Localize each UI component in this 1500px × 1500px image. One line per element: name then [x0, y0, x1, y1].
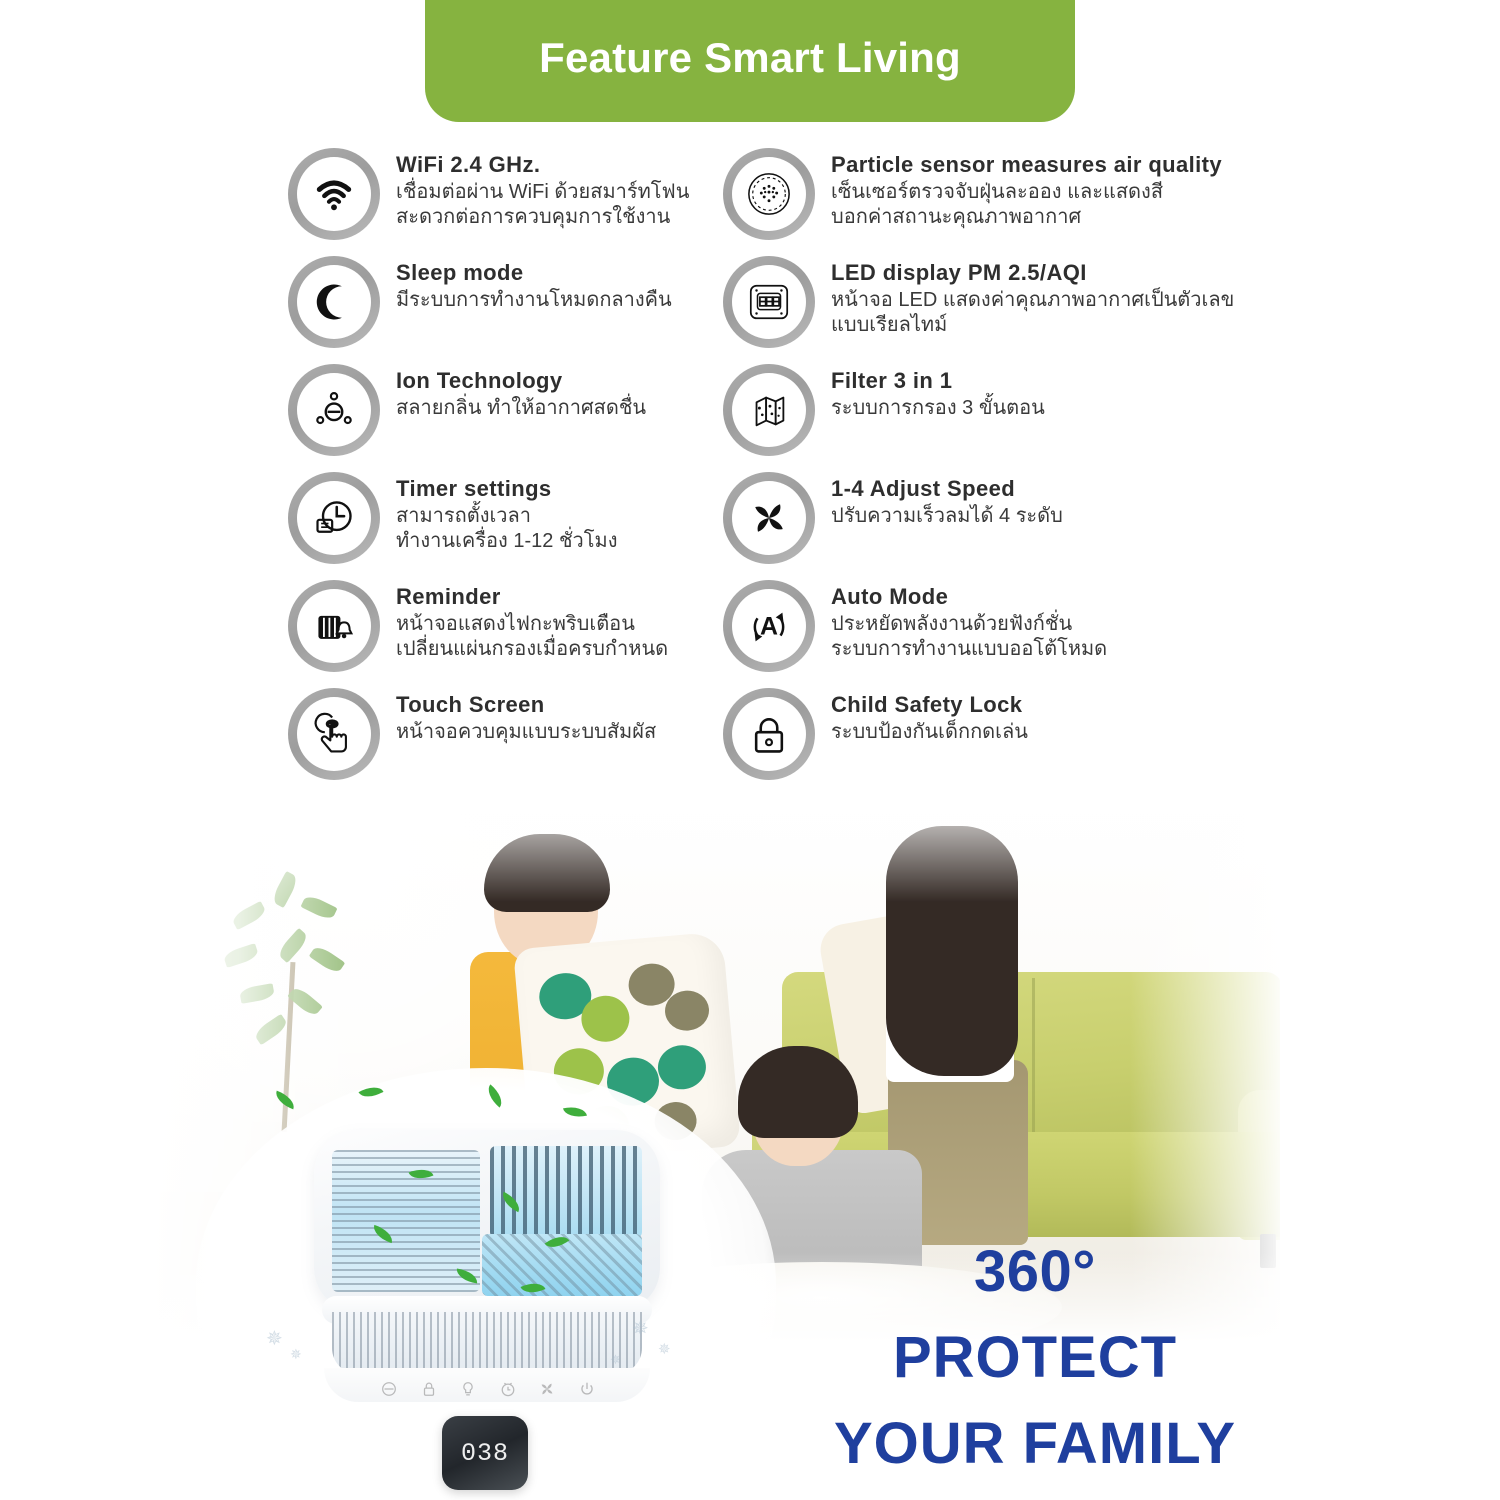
feature-text: Ion Technology สลายกลิ่น ทำให้อากาศสดชื่… — [396, 364, 646, 421]
feature-desc: เซ็นเซอร์ตรวจจับฝุ่นละออง และแสดงสี บอกค… — [831, 180, 1222, 231]
feature-text: Auto Mode ประหยัดพลังงานด้วยฟังก์ชั่น ระ… — [831, 580, 1107, 663]
grille-pane-top-right — [490, 1146, 642, 1238]
snowflake-sparkle: ✵ — [290, 1346, 302, 1363]
feature-item-adjust-speed: 1-4 Adjust Speed ปรับความเร็วลมได้ 4 ระด… — [723, 472, 1283, 568]
floating-leaf — [483, 1084, 508, 1107]
ion-icon — [288, 364, 380, 456]
feature-desc: เชื่อมต่อผ่าน WiFi ด้วยสมาร์ทโฟน สะดวกต่… — [396, 180, 689, 231]
floating-leaf — [563, 1104, 587, 1120]
purifier-side-grille — [332, 1312, 642, 1374]
feature-item-child-lock: Child Safety Lock ระบบป้องกันเด็กกดเล่น — [723, 688, 1283, 784]
feature-text: Touch Screen หน้าจอควบคุมแบบระบบสัมผัส — [396, 688, 656, 745]
light-button-icon[interactable] — [459, 1380, 477, 1398]
feature-item-touch-screen: Touch Screen หน้าจอควบคุมแบบระบบสัมผัส — [288, 688, 708, 784]
led-display-panel: 038 — [442, 1416, 528, 1490]
feature-title: Ion Technology — [396, 368, 646, 395]
snowflake-sparkle: ✵ — [610, 1352, 621, 1368]
filter-layers-icon — [723, 364, 815, 456]
snowflake-sparkle: ✵ — [658, 1340, 671, 1358]
ion-button-icon[interactable] — [380, 1380, 398, 1398]
feature-title: Child Safety Lock — [831, 692, 1028, 719]
air-purifier-product: 038 ✵ ✵ ✵ ✵ ✵ — [314, 1130, 660, 1382]
snowflake-sparkle: ✵ — [632, 1316, 649, 1341]
feature-desc: ประหยัดพลังงานด้วยฟังก์ชั่น ระบบการทำงาน… — [831, 612, 1107, 663]
feature-text: WiFi 2.4 GHz. เชื่อมต่อผ่าน WiFi ด้วยสมา… — [396, 148, 689, 231]
auto-mode-icon-glyph: A — [742, 599, 796, 653]
led-display-icon — [723, 256, 815, 348]
feature-text: Sleep mode มีระบบการทำงานโหมดกลางคืน — [396, 256, 672, 313]
feature-title: WiFi 2.4 GHz. — [396, 152, 689, 179]
product-stage: 038 ✵ ✵ ✵ ✵ ✵ — [196, 1068, 776, 1500]
feature-item-led-display: LED display PM 2.5/AQI หน้าจอ LED แสดงค่… — [723, 256, 1283, 352]
lock-icon-glyph — [742, 707, 796, 761]
timer-clock-icon — [288, 472, 380, 564]
feature-title: Particle sensor measures air quality — [831, 152, 1222, 179]
feature-text: Particle sensor measures air quality เซ็… — [831, 148, 1222, 231]
filter-reminder-bell-icon — [288, 580, 380, 672]
feature-desc: หน้าจอแสดงไฟกะพริบเตือน เปลี่ยนแผ่นกรองเ… — [396, 612, 668, 663]
timer-clock-icon-glyph — [307, 491, 361, 545]
power-button-icon[interactable] — [578, 1380, 596, 1398]
feature-item-wifi: WiFi 2.4 GHz. เชื่อมต่อผ่าน WiFi ด้วยสมา… — [288, 148, 708, 244]
filter-reminder-bell-icon-glyph — [307, 599, 361, 653]
feature-desc: หน้าจอควบคุมแบบระบบสัมผัส — [396, 720, 656, 746]
feature-item-ion-technology: Ion Technology สลายกลิ่น ทำให้อากาศสดชื่… — [288, 364, 708, 460]
filter-layers-icon-glyph — [742, 383, 796, 437]
feature-desc: ปรับความเร็วลมได้ 4 ระดับ — [831, 504, 1063, 530]
touch-hand-icon — [288, 688, 380, 780]
fan-blade-icon-glyph — [742, 491, 796, 545]
feature-desc: ระบบป้องกันเด็กกดเล่น — [831, 720, 1028, 746]
fan-blade-icon — [723, 472, 815, 564]
wifi-icon — [288, 148, 380, 240]
particle-sensor-icon — [723, 148, 815, 240]
feature-item-sleep-mode: Sleep mode มีระบบการทำงานโหมดกลางคืน — [288, 256, 708, 352]
page-title: Feature Smart Living — [539, 37, 961, 85]
feature-title: Sleep mode — [396, 260, 672, 287]
infographic-page: Feature Smart Living — [0, 0, 1500, 1500]
particle-sensor-icon-glyph — [742, 167, 796, 221]
feature-text: LED display PM 2.5/AQI หน้าจอ LED แสดงค่… — [831, 256, 1234, 339]
feature-title: Filter 3 in 1 — [831, 368, 1045, 395]
feature-item-particle-sensor: Particle sensor measures air quality เซ็… — [723, 148, 1283, 244]
feature-item-filter-3in1: Filter 3 in 1 ระบบการกรอง 3 ขั้นตอน — [723, 364, 1283, 460]
feature-text: Reminder หน้าจอแสดงไฟกะพริบเตือน เปลี่ยน… — [396, 580, 668, 663]
feature-desc: มีระบบการทำงานโหมดกลางคืน — [396, 288, 672, 314]
header-banner: Feature Smart Living — [425, 0, 1075, 122]
feature-item-auto-mode: A Auto Mode ประหยัดพลังงานด้วยฟังก์ชั่น … — [723, 580, 1283, 676]
feature-title: 1-4 Adjust Speed — [831, 476, 1063, 503]
moon-icon-glyph — [307, 275, 361, 329]
feature-title: Timer settings — [396, 476, 617, 503]
wifi-icon-glyph — [307, 167, 361, 221]
feature-title: Reminder — [396, 584, 668, 611]
control-panel[interactable] — [380, 1378, 596, 1400]
feature-item-reminder: Reminder หน้าจอแสดงไฟกะพริบเตือน เปลี่ยน… — [288, 580, 708, 676]
headline-360: 360° — [800, 1240, 1270, 1304]
lock-icon — [723, 688, 815, 780]
feature-text: 1-4 Adjust Speed ปรับความเร็วลมได้ 4 ระด… — [831, 472, 1063, 529]
purifier-top-grille — [314, 1130, 660, 1312]
feature-desc: สามารถตั้งเวลา ทำงานเครื่อง 1-12 ชั่วโมง — [396, 504, 617, 555]
touch-hand-icon-glyph — [307, 707, 361, 761]
feature-text: Child Safety Lock ระบบป้องกันเด็กกดเล่น — [831, 688, 1028, 745]
headline-protect: PROTECT — [800, 1326, 1270, 1390]
led-display-icon-glyph — [742, 275, 796, 329]
feature-desc: ระบบการกรอง 3 ขั้นตอน — [831, 396, 1045, 422]
timer-button-icon[interactable] — [499, 1380, 517, 1398]
moon-icon — [288, 256, 380, 348]
auto-mode-icon: A — [723, 580, 815, 672]
lock-button-icon[interactable] — [420, 1380, 438, 1398]
ion-icon-glyph — [307, 383, 361, 437]
bottom-headline: 360° PROTECT YOUR FAMILY — [800, 1240, 1270, 1475]
feature-desc: หน้าจอ LED แสดงค่าคุณภาพอากาศเป็นตัวเลข … — [831, 288, 1234, 339]
feature-title: Auto Mode — [831, 584, 1107, 611]
feature-title: LED display PM 2.5/AQI — [831, 260, 1234, 287]
feature-item-timer-settings: Timer settings สามารถตั้งเวลา ทำงานเครื่… — [288, 472, 708, 568]
feature-text: Timer settings สามารถตั้งเวลา ทำงานเครื่… — [396, 472, 617, 555]
child-hair — [738, 1046, 858, 1138]
snowflake-sparkle: ✵ — [266, 1326, 283, 1351]
feature-desc: สลายกลิ่น ทำให้อากาศสดชื่น — [396, 396, 646, 422]
svg-text:A: A — [760, 613, 778, 641]
fan-speed-button-icon[interactable] — [538, 1380, 556, 1398]
feature-title: Touch Screen — [396, 692, 656, 719]
headline-family: YOUR FAMILY — [800, 1412, 1270, 1476]
feature-text: Filter 3 in 1 ระบบการกรอง 3 ขั้นตอน — [831, 364, 1045, 421]
feature-grid: WiFi 2.4 GHz. เชื่อมต่อผ่าน WiFi ด้วยสมา… — [0, 148, 1500, 788]
led-display-value: 038 — [461, 1439, 509, 1468]
